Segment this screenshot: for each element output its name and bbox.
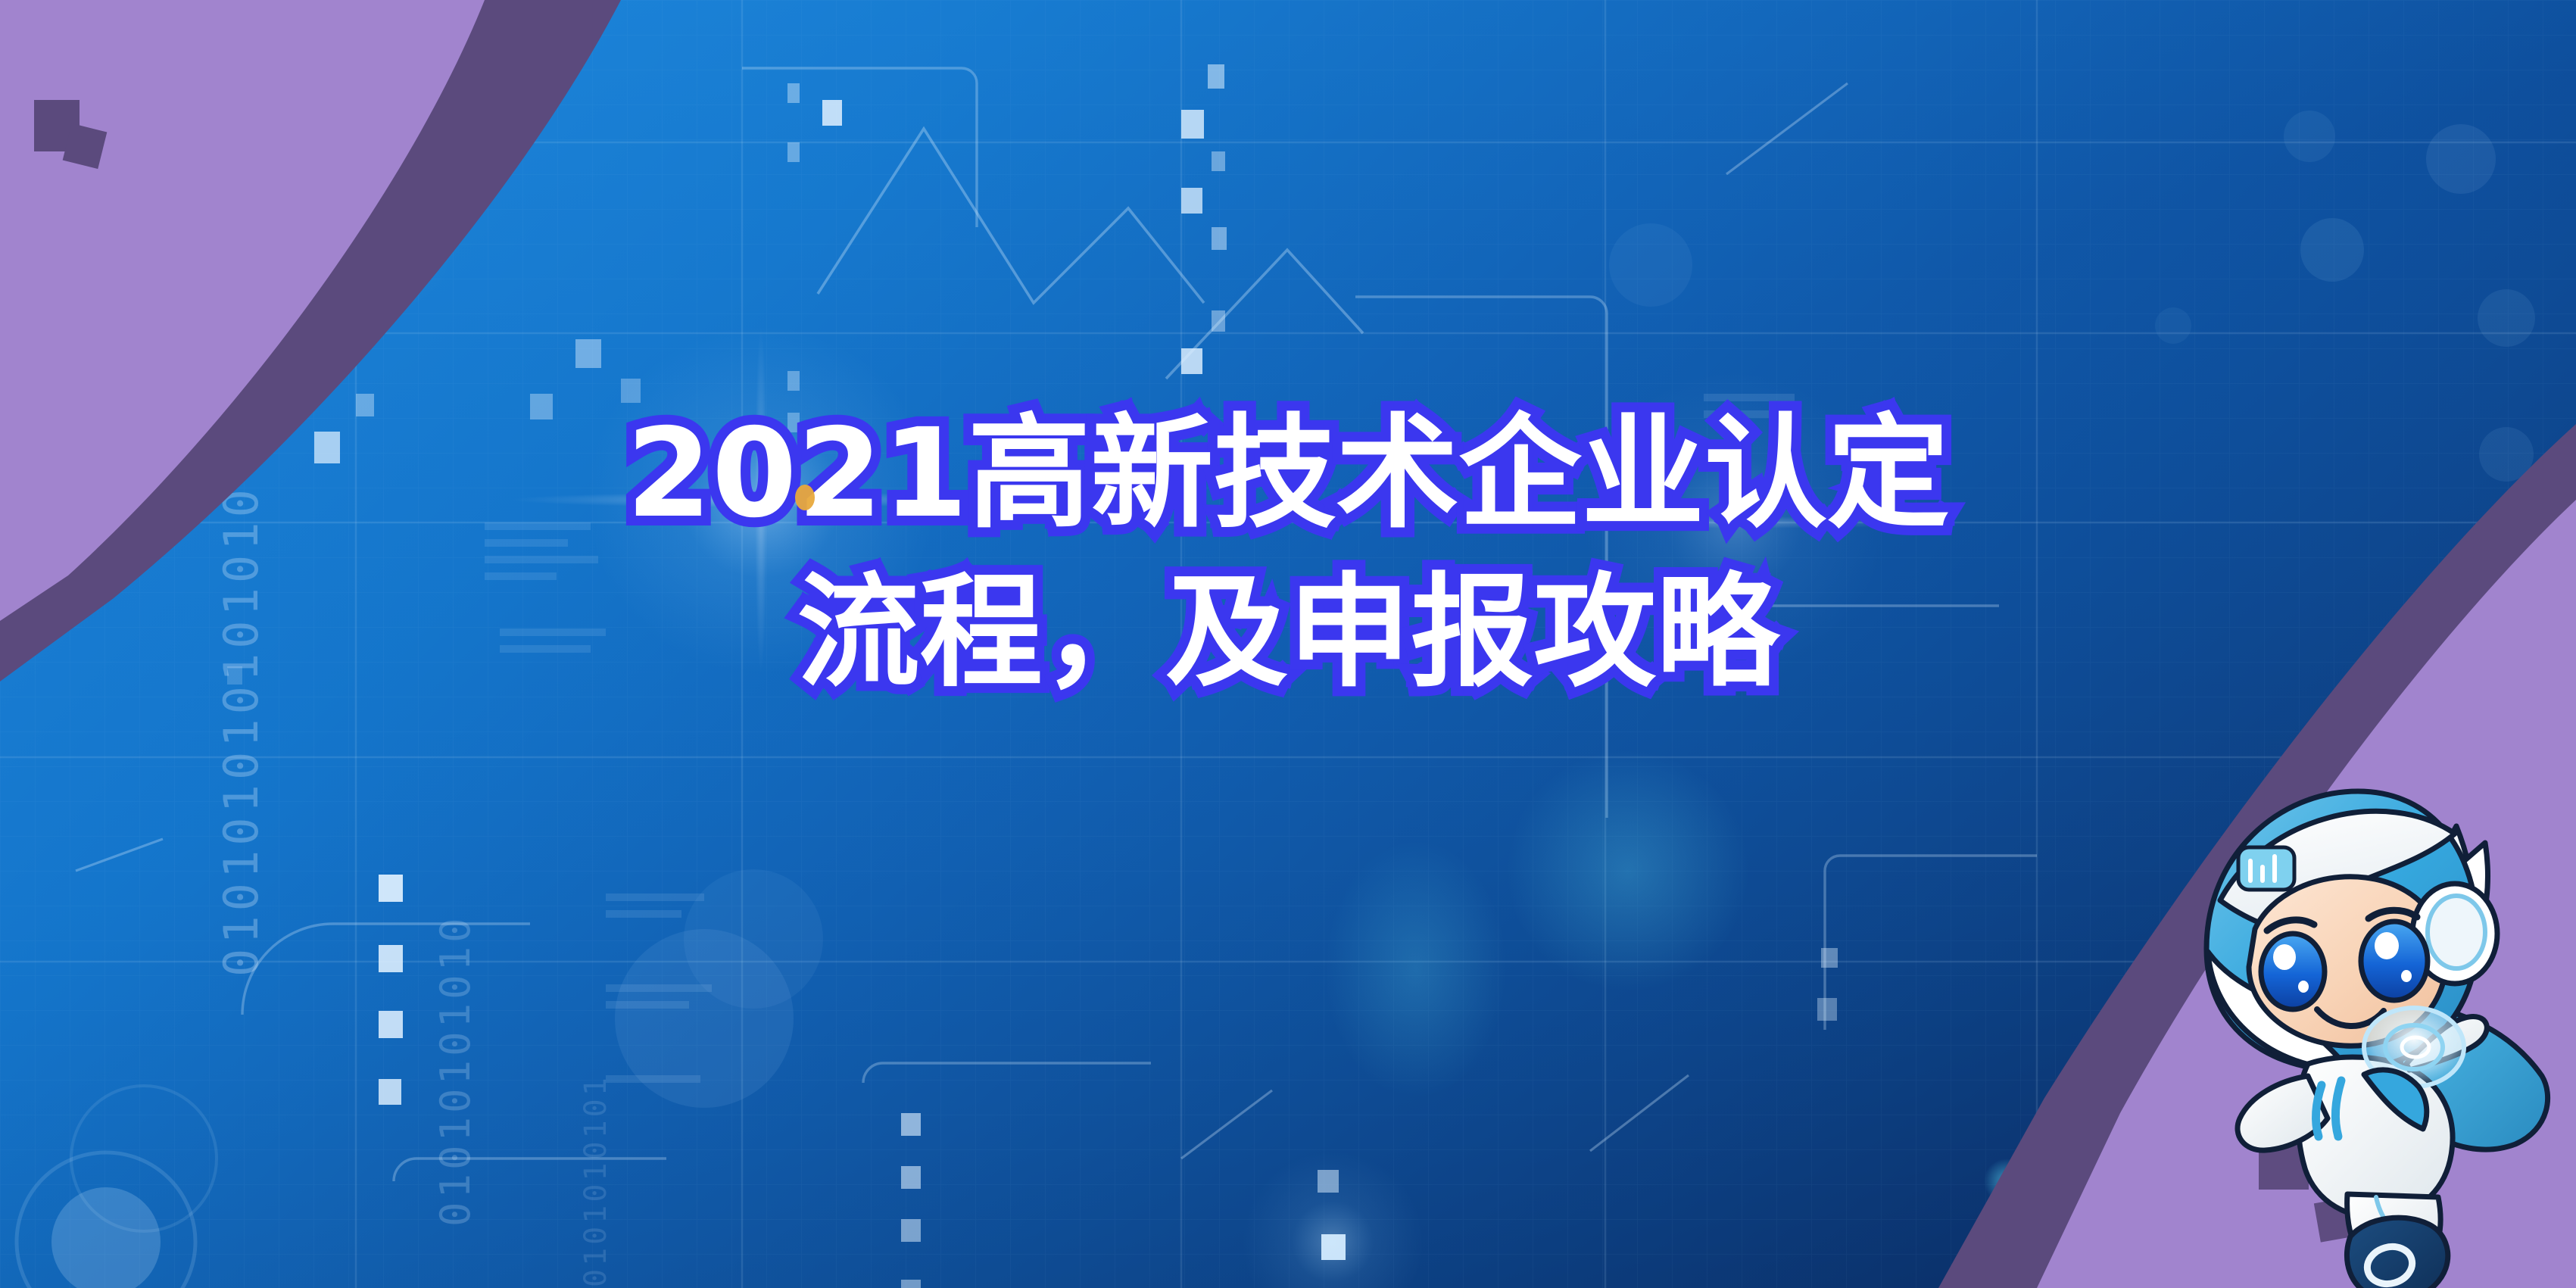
orange-accent-dot xyxy=(795,485,815,510)
mascot-svg xyxy=(2160,773,2576,1288)
mascot-boot xyxy=(2347,1218,2447,1288)
purple-curve-top-left-light xyxy=(0,0,485,621)
robot-astronaut-mascot xyxy=(2160,773,2576,1288)
banner-canvas: 010101010101010 01010101010 0101010101 xyxy=(0,0,2576,1288)
mascot-visor-badge xyxy=(2238,847,2294,890)
mascot-eye-right xyxy=(2361,922,2428,1000)
mascot-eye-left xyxy=(2261,934,2325,1009)
